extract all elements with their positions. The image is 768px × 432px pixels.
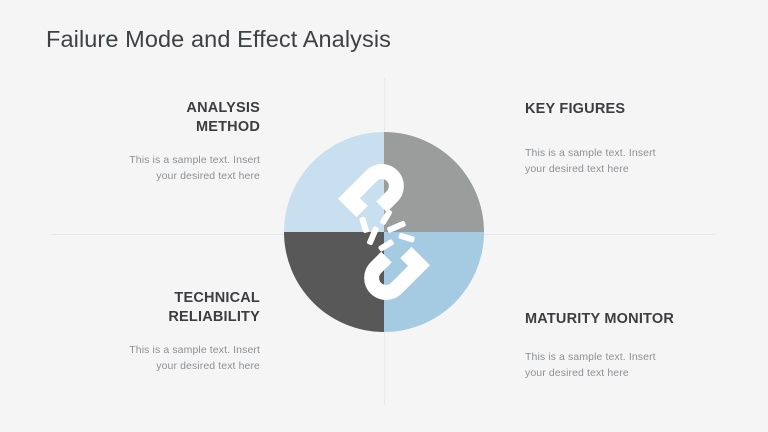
heading-line-1: KEY FIGURES <box>525 100 740 119</box>
quadrant-body-maturity-monitor: This is a sample text. Insert your desir… <box>525 349 740 381</box>
quadrant-text-maturity-monitor: MATURITY MONITOR This is a sample text. … <box>525 310 740 381</box>
quadrant-body-analysis-method: This is a sample text. Insert your desir… <box>60 152 260 184</box>
quadrant-body-technical-reliability: This is a sample text. Insert your desir… <box>60 342 260 374</box>
quadrant-heading-analysis-method: ANALYSIS METHOD <box>60 99 260 137</box>
slide-canvas: Failure Mode and Effect Analysis <box>0 0 768 432</box>
body-line-2: your desired text here <box>60 358 260 374</box>
body-line-1: This is a sample text. Insert <box>525 145 740 161</box>
heading-line-1: ANALYSIS <box>60 99 260 118</box>
quadrant-text-key-figures: KEY FIGURES This is a sample text. Inser… <box>525 100 740 177</box>
quadrant-text-technical-reliability: TECHNICAL RELIABILITY This is a sample t… <box>60 289 260 374</box>
heading-line-2: METHOD <box>60 118 260 137</box>
body-line-1: This is a sample text. Insert <box>525 349 740 365</box>
page-title: Failure Mode and Effect Analysis <box>46 26 391 53</box>
body-line-2: your desired text here <box>60 168 260 184</box>
quadrant-body-key-figures: This is a sample text. Insert your desir… <box>525 145 740 177</box>
heading-line-1: MATURITY MONITOR <box>525 310 740 329</box>
heading-line-2: RELIABILITY <box>60 308 260 327</box>
quadrant-heading-technical-reliability: TECHNICAL RELIABILITY <box>60 289 260 327</box>
quadrant-text-analysis-method: ANALYSIS METHOD This is a sample text. I… <box>60 99 260 184</box>
body-line-1: This is a sample text. Insert <box>60 152 260 168</box>
quadrant-heading-maturity-monitor: MATURITY MONITOR <box>525 310 740 329</box>
body-line-2: your desired text here <box>525 365 740 381</box>
body-line-2: your desired text here <box>525 161 740 177</box>
quadrant-pie-chart[interactable] <box>284 132 484 332</box>
body-line-1: This is a sample text. Insert <box>60 342 260 358</box>
heading-line-1: TECHNICAL <box>60 289 260 308</box>
quadrant-heading-key-figures: KEY FIGURES <box>525 100 740 119</box>
